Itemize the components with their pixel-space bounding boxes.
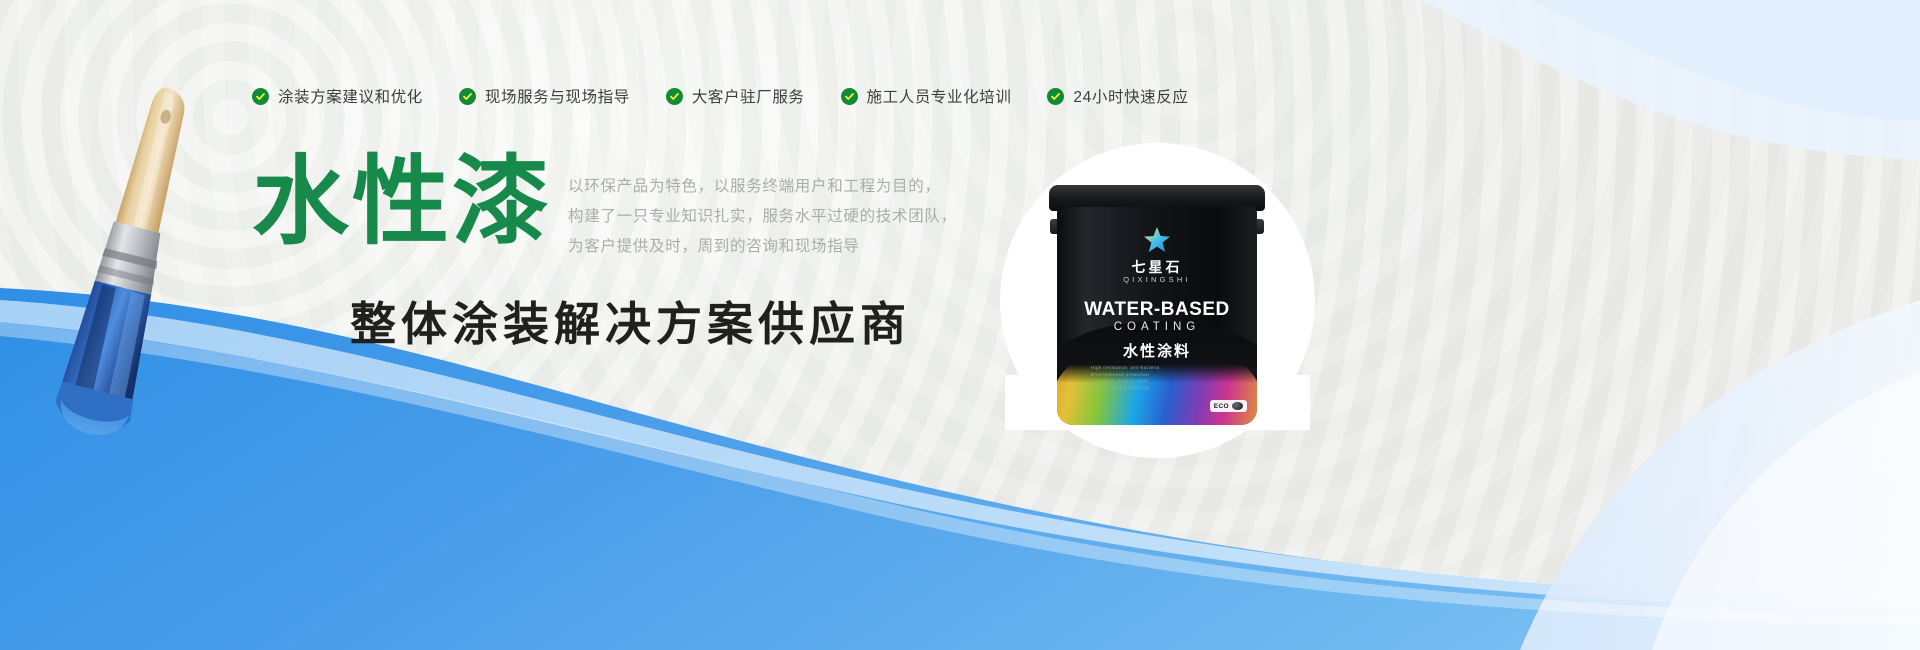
bucket-body: 七星石 QIXINGSHI WATER-BASED COATING 水性涂料 H… bbox=[1057, 207, 1257, 425]
page-subtitle: 整体涂装解决方案供应商 bbox=[350, 288, 911, 354]
feature-label: 24小时快速反应 bbox=[1073, 85, 1188, 107]
product-title-en: WATER-BASED bbox=[1057, 299, 1257, 321]
brand-name-en: QIXINGSHI bbox=[1057, 275, 1257, 284]
eco-label: ECO bbox=[1214, 403, 1229, 410]
feature-label: 涂装方案建议和优化 bbox=[278, 85, 423, 107]
headline-block: 水性漆 以环保产品为特色，以服务终端用户和工程为目的， 构建了一只专业知识扎实，… bbox=[252, 152, 957, 262]
hero-banner: 涂装方案建议和优化 现场服务与现场指导 大客户驻厂服务 施工人员专业化培训 24… bbox=[0, 0, 1920, 650]
check-circle-icon bbox=[252, 88, 269, 105]
eco-dot-icon bbox=[1232, 402, 1243, 410]
feature-item[interactable]: 大客户驻厂服务 bbox=[666, 85, 805, 107]
check-circle-icon bbox=[666, 88, 683, 105]
feature-item[interactable]: 24小时快速反应 bbox=[1047, 85, 1188, 107]
product-subtitle-en: COATING bbox=[1057, 321, 1257, 333]
feature-item[interactable]: 现场服务与现场指导 bbox=[459, 85, 630, 107]
description-line: 构建了一只专业知识扎实，服务水平过硬的技术团队， bbox=[568, 202, 957, 232]
product-bucket[interactable]: 七星石 QIXINGSHI WATER-BASED COATING 水性涂料 H… bbox=[1038, 185, 1276, 430]
product-spec-line: Durable smooth finishing bbox=[1091, 385, 1216, 392]
feature-label: 现场服务与现场指导 bbox=[485, 85, 630, 107]
paint-brush-icon bbox=[36, 80, 246, 500]
feature-list: 涂装方案建议和优化 现场服务与现场指导 大客户驻厂服务 施工人员专业化培训 24… bbox=[252, 85, 1188, 107]
description-line: 为客户提供及时，周到的咨询和现场指导 bbox=[568, 232, 957, 262]
feature-label: 大客户驻厂服务 bbox=[692, 85, 805, 107]
check-circle-icon bbox=[841, 88, 858, 105]
star-icon bbox=[1142, 225, 1172, 260]
feature-label: 施工人员专业化培训 bbox=[867, 85, 1012, 107]
page-title: 水性漆 bbox=[252, 152, 552, 252]
description-text: 以环保产品为特色，以服务终端用户和工程为目的， 构建了一只专业知识扎实，服务水平… bbox=[568, 172, 957, 262]
check-circle-icon bbox=[1047, 88, 1064, 105]
check-circle-icon bbox=[459, 88, 476, 105]
feature-item[interactable]: 施工人员专业化培训 bbox=[841, 85, 1012, 107]
feature-item[interactable]: 涂装方案建议和优化 bbox=[252, 85, 423, 107]
product-spec-list: High resistance, anti-bacteria Environme… bbox=[1091, 365, 1216, 391]
description-line: 以环保产品为特色，以服务终端用户和工程为目的， bbox=[568, 172, 957, 202]
brand-name-cn: 七星石 bbox=[1057, 257, 1257, 277]
eco-badge: ECO bbox=[1210, 400, 1247, 412]
product-title-cn: 水性涂料 bbox=[1057, 340, 1257, 361]
